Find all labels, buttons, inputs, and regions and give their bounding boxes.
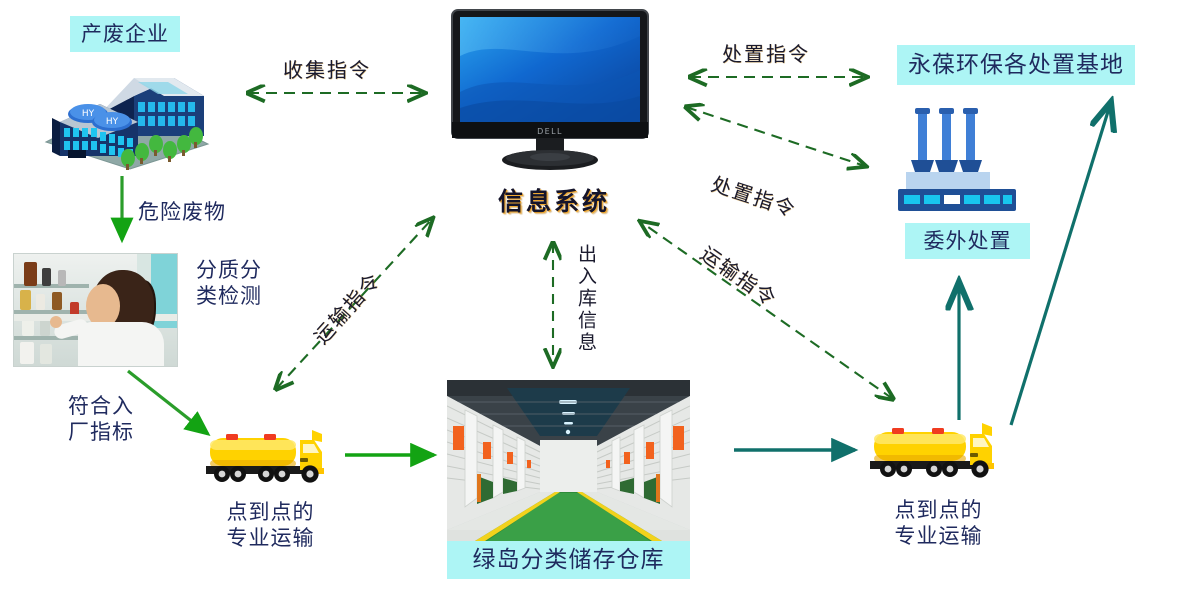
system-label: 信息系统 (498, 182, 610, 218)
tanker-truck-icon-left (200, 424, 340, 486)
label-meets-intake-criteria: 符合入 厂指标 (68, 394, 134, 445)
node-bases-label: 永葆环保各处置基地 (897, 45, 1135, 85)
warehouse-photo (447, 380, 690, 541)
label-transport-order-left: 运输指令 (306, 265, 386, 350)
node-producer-label: 产废企业 (70, 16, 180, 52)
node-warehouse-label: 绿岛分类储存仓库 (447, 541, 690, 579)
office-building-icon: HY HY (38, 56, 214, 174)
label-collect-order: 收集指令 (283, 54, 371, 83)
tanker-truck-icon-right (864, 418, 1012, 482)
laboratory-photo (13, 253, 178, 367)
factory-icon (898, 100, 1028, 212)
label-quality-classification-test: 分质分 类检测 (196, 258, 262, 309)
label-inout-stock-info: 出入库信息 (572, 244, 599, 354)
label-dispose-order-diagonal: 处置指令 (708, 168, 801, 223)
svg-text:HY: HY (106, 117, 119, 127)
diagram-canvas: 产废企业 (0, 0, 1191, 611)
edge-meets-intake (128, 371, 208, 434)
label-dispose-order-top: 处置指令 (722, 38, 810, 67)
node-outsourced-label: 委外处置 (905, 223, 1030, 259)
svg-text:HY: HY (82, 109, 95, 119)
caption-truck-left: 点到点的 专业运输 (198, 500, 343, 551)
monitor-icon: DELL (450, 8, 650, 173)
edge-dispose-order-diagonal (686, 107, 865, 166)
svg-text:DELL: DELL (537, 127, 563, 136)
caption-truck-right: 点到点的 专业运输 (866, 498, 1011, 549)
label-transport-order-right: 运输指令 (695, 238, 784, 312)
label-hazardous-waste: 危险废物 (138, 200, 226, 226)
